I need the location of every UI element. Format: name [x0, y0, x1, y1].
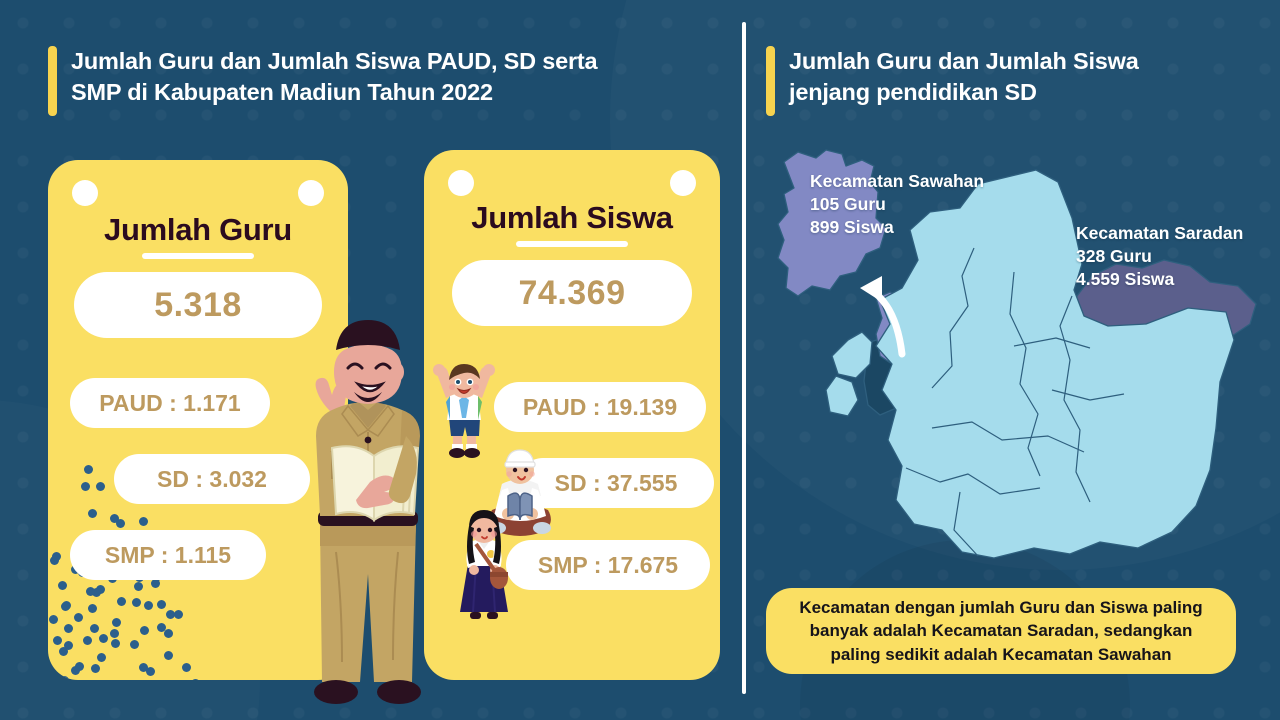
title-accent-bar [766, 46, 775, 116]
card-title-guru: Jumlah Guru [48, 212, 348, 248]
left-panel-title: Jumlah Guru dan Jumlah Siswa PAUD, SD se… [48, 46, 718, 116]
map-label-sawahan: Kecamatan Sawahan 105 Guru 899 Siswa [810, 170, 984, 239]
guru-smp-pill: SMP : 1.115 [70, 530, 266, 580]
map-label-saradan: Kecamatan Saradan 328 Guru 4.559 Siswa [1076, 222, 1243, 291]
map-region-west-tongue-2 [826, 376, 858, 416]
right-title-text: Jumlah Guru dan Jumlah Siswa jenjang pen… [789, 46, 1139, 109]
left-title-text: Jumlah Guru dan Jumlah Siswa PAUD, SD se… [71, 46, 597, 109]
right-panel-title: Jumlah Guru dan Jumlah Siswa jenjang pen… [766, 46, 1236, 116]
map-caption-box: Kecamatan dengan jumlah Guru dan Siswa p… [766, 588, 1236, 674]
card-punch-hole-icon [448, 170, 474, 196]
guru-paud-pill: PAUD : 1.171 [70, 378, 270, 428]
student-smp-illustration [448, 502, 520, 624]
card-punch-hole-icon [298, 180, 324, 206]
card-punch-hole-icon [72, 180, 98, 206]
siswa-total-value: 74.369 [452, 260, 692, 326]
siswa-smp-pill: SMP : 17.675 [506, 540, 710, 590]
card-title-underline [516, 241, 628, 247]
card-title-siswa: Jumlah Siswa [424, 200, 720, 236]
card-title-underline [142, 253, 254, 259]
siswa-paud-pill: PAUD : 19.139 [494, 382, 706, 432]
card-punch-hole-icon [670, 170, 696, 196]
infographic-canvas: Jumlah Guru dan Jumlah Siswa PAUD, SD se… [0, 0, 1280, 720]
panel-divider [742, 22, 746, 694]
title-accent-bar [48, 46, 57, 116]
